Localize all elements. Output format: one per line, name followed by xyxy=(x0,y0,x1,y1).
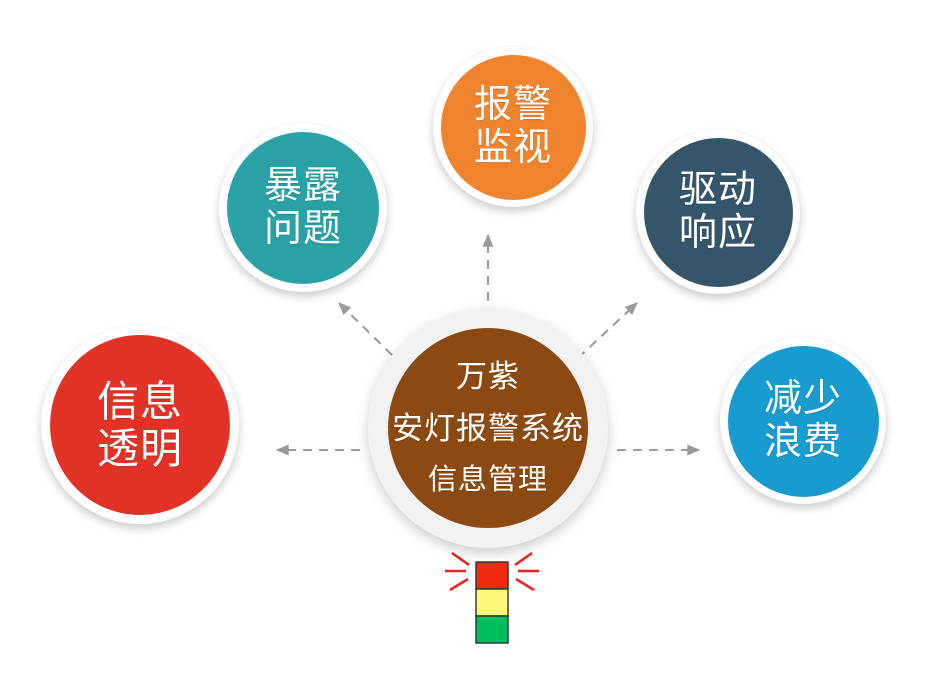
node-expose-problems[interactable]: 暴露 问题 xyxy=(219,124,387,292)
andon-flash-rays-right xyxy=(515,553,539,590)
node-reduce-waste-disc: 减少 浪费 xyxy=(728,346,879,497)
node-alarm-monitoring[interactable]: 报警 监视 xyxy=(433,47,593,207)
hub-andon-alarm-system[interactable]: 万紫 安灯报警系统 信息管理 xyxy=(368,308,608,548)
node-drive-response-label-line2: 响应 xyxy=(679,212,757,255)
diagram-canvas: 暴露 问题 报警 监视 驱动 响应 信息 透明 减少 浪费 万紫 安 xyxy=(0,0,939,680)
node-information-transparency-label-line1: 信息 xyxy=(97,378,183,425)
andon-flash-rays-left xyxy=(445,553,469,590)
node-expose-problems-disc: 暴露 问题 xyxy=(227,132,379,284)
node-expose-problems-label-line1: 暴露 xyxy=(264,165,342,208)
node-drive-response-disc: 驱动 响应 xyxy=(644,138,793,287)
node-information-transparency-disc: 信息 透明 xyxy=(50,335,230,515)
node-reduce-waste-label-line1: 减少 xyxy=(764,378,842,421)
node-information-transparency[interactable]: 信息 透明 xyxy=(41,326,239,524)
hub-label-line1: 万紫 xyxy=(456,360,520,395)
hub-andon-alarm-system-disc: 万紫 安灯报警系统 信息管理 xyxy=(388,328,588,528)
connector-arrow-drive xyxy=(578,303,637,358)
node-alarm-monitoring-label-line1: 报警 xyxy=(474,84,552,127)
node-drive-response-label-line1: 驱动 xyxy=(679,169,757,212)
andon-lamp-yellow xyxy=(476,589,508,616)
hub-label-line3: 信息管理 xyxy=(428,464,548,496)
node-expose-problems-label-line2: 问题 xyxy=(264,208,342,251)
node-alarm-monitoring-disc: 报警 监视 xyxy=(441,55,586,200)
node-reduce-waste-label-line2: 浪费 xyxy=(764,421,842,464)
node-alarm-monitoring-label-line2: 监视 xyxy=(474,127,552,170)
node-information-transparency-label-line2: 透明 xyxy=(97,425,183,472)
hub-label-line2: 安灯报警系统 xyxy=(392,412,584,447)
andon-lamp-green xyxy=(476,616,508,643)
node-reduce-waste[interactable]: 减少 浪费 xyxy=(720,338,886,504)
node-drive-response[interactable]: 驱动 响应 xyxy=(636,130,800,294)
andon-lamp-red xyxy=(476,562,508,589)
andon-light-icon xyxy=(444,548,540,652)
connector-arrow-expose xyxy=(339,303,392,355)
